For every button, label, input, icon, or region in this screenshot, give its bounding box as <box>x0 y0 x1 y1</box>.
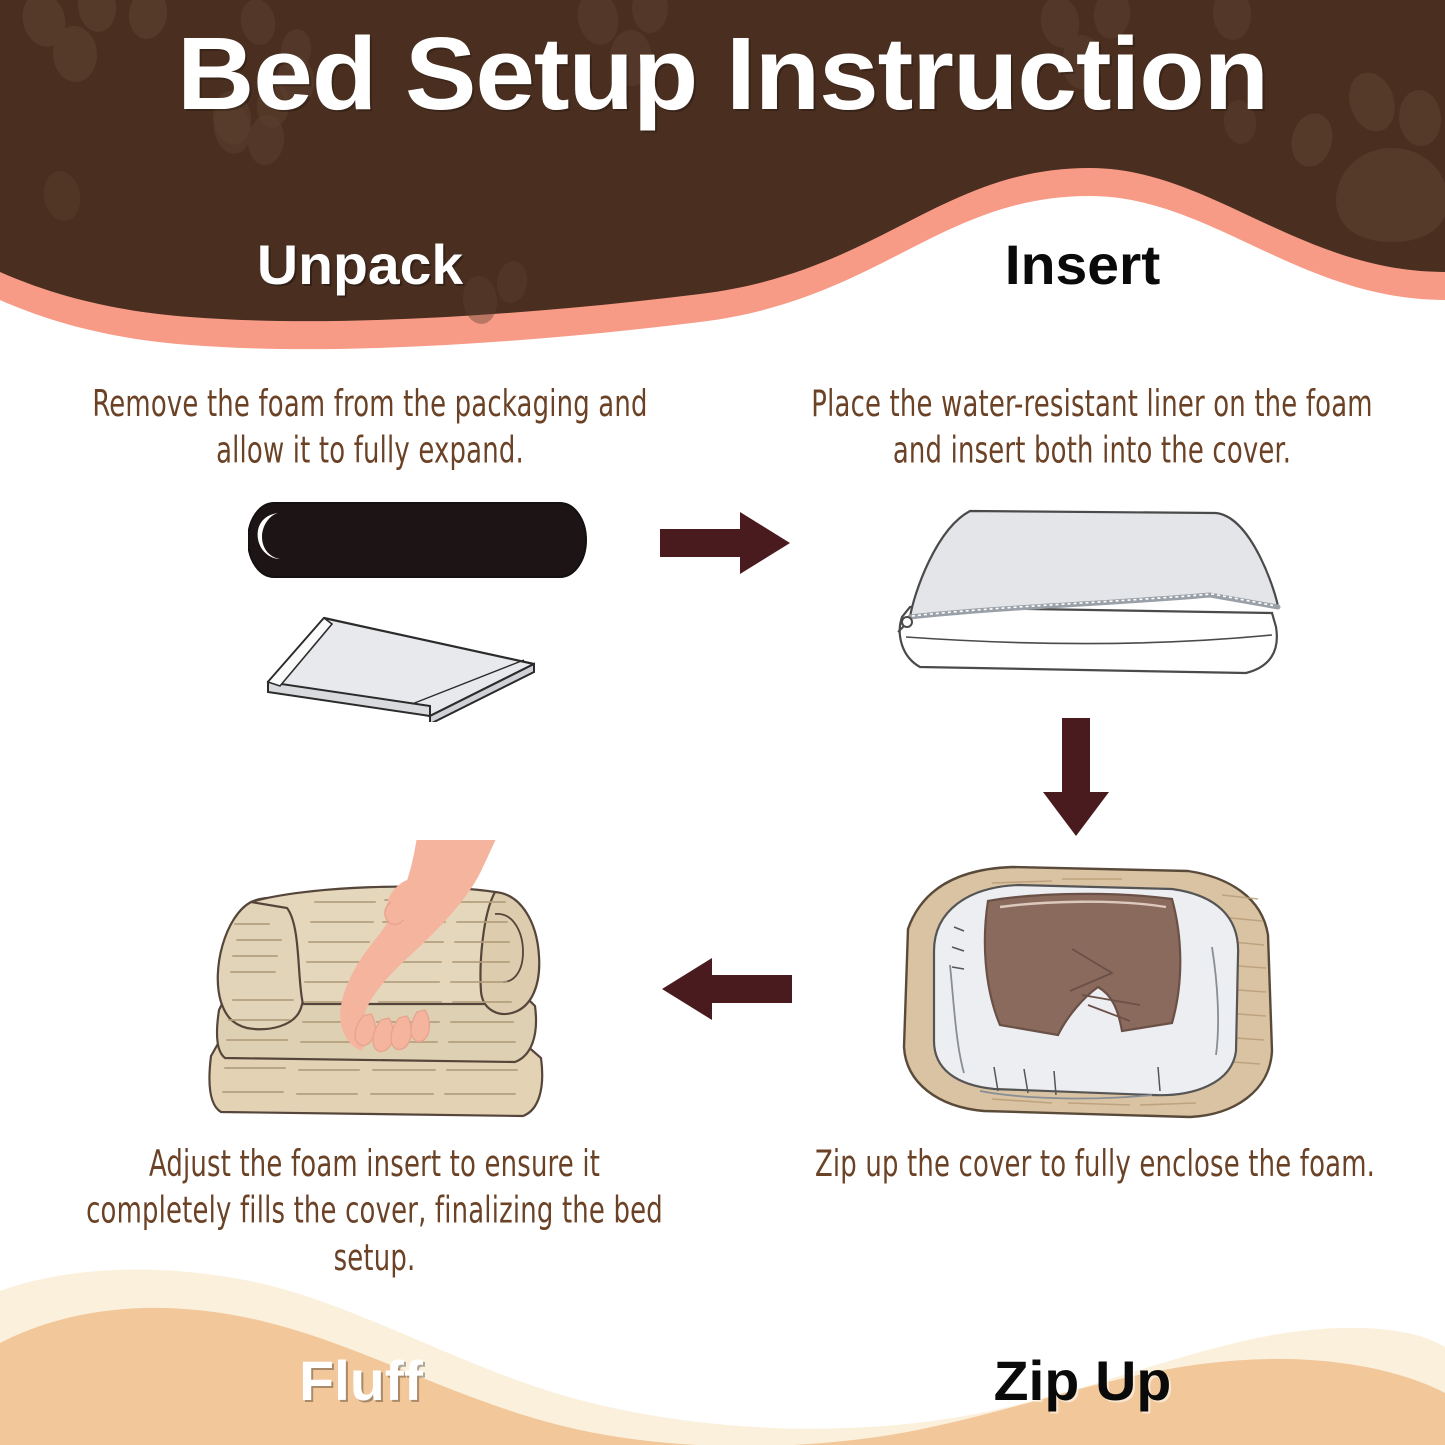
liner-sheet-illustration <box>262 612 552 722</box>
arrow-left-zipup-to-fluff <box>662 958 792 1020</box>
step-heading-fluff: Fluff <box>0 1348 729 1413</box>
mattress-with-liner-illustration <box>880 495 1300 685</box>
hand-fluffing-bed-illustration <box>185 840 625 1140</box>
bed-setup-instruction-infographic: Bed Setup Instruction Unpack Insert Remo… <box>0 0 1445 1445</box>
arrow-down-icon <box>1043 718 1109 836</box>
arrow-right-icon <box>660 512 790 574</box>
rolled-foam-illustration <box>248 495 588 585</box>
step-heading-insert: Insert <box>713 232 1445 297</box>
caption-zipup: Zip up the cover to fully enclose the fo… <box>802 1142 1388 1189</box>
caption-unpack: Remove the foam from the packaging and a… <box>68 382 673 476</box>
caption-insert: Place the water-resistant liner on the f… <box>791 382 1394 476</box>
bolster-right <box>481 892 540 1014</box>
arrow-left-icon <box>662 958 792 1020</box>
step-heading-zipup: Zip Up <box>713 1348 1445 1413</box>
step-heading-unpack: Unpack <box>0 232 727 297</box>
open-cover-with-foam-illustration <box>872 855 1292 1145</box>
foam-roll-body <box>248 503 586 577</box>
arrow-right-unpack-to-insert <box>660 512 790 574</box>
header-banner: Bed Setup Instruction <box>0 0 1445 420</box>
arrow-down-insert-to-zipup <box>1043 718 1109 836</box>
page-title: Bed Setup Instruction <box>0 18 1445 129</box>
